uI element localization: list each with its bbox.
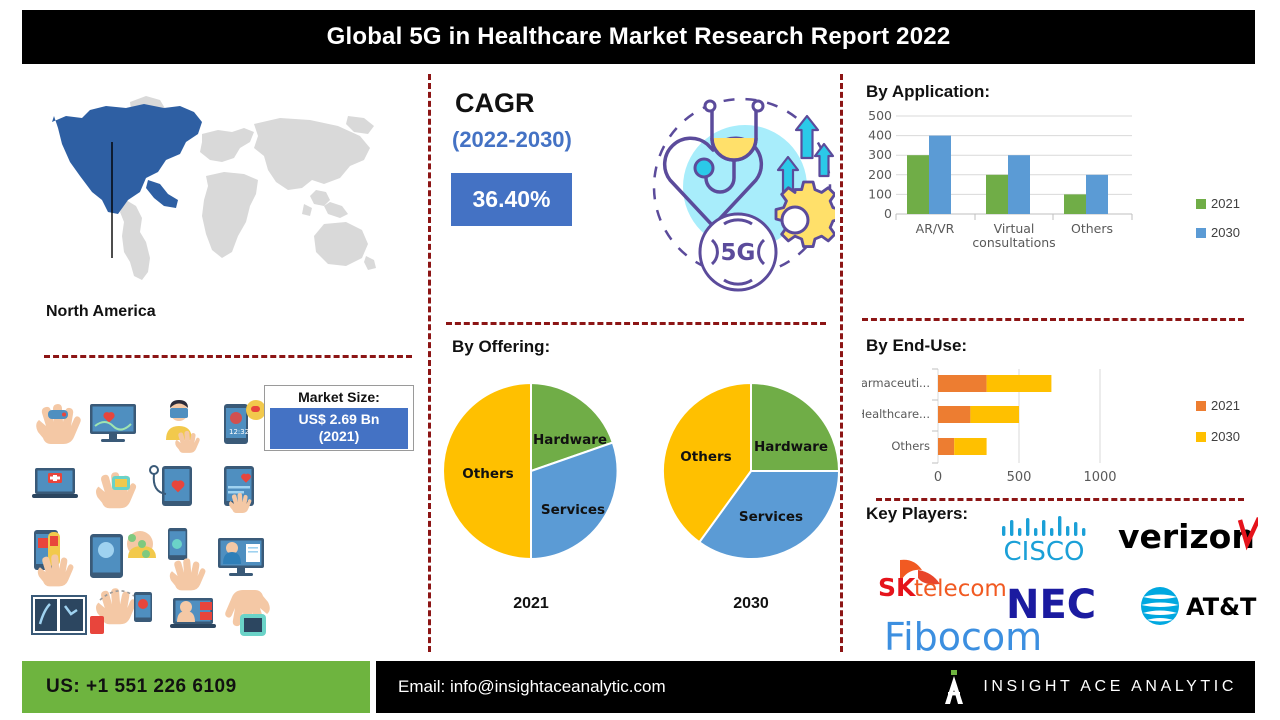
svg-text:100: 100 — [868, 186, 892, 201]
enduse-bar-chart: Pharmaceuti... Healthcare... Others 0 50… — [862, 365, 1172, 495]
svg-text:400: 400 — [868, 128, 892, 143]
svg-text:Hardware: Hardware — [754, 439, 828, 455]
page-title: Global 5G in Healthcare Market Research … — [327, 23, 951, 51]
section-title-enduse: By End-Use: — [866, 336, 967, 356]
svg-text:telecom: telecom — [914, 576, 1007, 602]
svg-text:CISCO: CISCO — [1004, 537, 1085, 567]
svg-text:500: 500 — [1007, 470, 1032, 485]
svg-text:Healthcare...: Healthcare... — [862, 407, 930, 421]
svg-text:Services: Services — [541, 502, 605, 518]
legend-swatch-enduse-2021 — [1196, 401, 1206, 411]
footer-brand: INSIGHT ACE ANALYTIC — [941, 670, 1237, 704]
legend-item-enduse-2030: 2030 — [1196, 429, 1240, 444]
footer-brand-name: INSIGHT ACE ANALYTIC — [983, 678, 1237, 696]
pie-year-2021: 2021 — [438, 595, 624, 613]
svg-text:consultations: consultations — [972, 235, 1055, 250]
cisco-logo: CISCO — [1002, 516, 1085, 567]
legend-swatch-2021 — [1196, 199, 1206, 209]
svg-text:5G: 5G — [721, 240, 756, 266]
svg-text:300: 300 — [868, 147, 892, 162]
fibocom-logo: Fibocom — [884, 615, 1042, 657]
region-label: North America — [46, 303, 156, 321]
svg-text:AT&T: AT&T — [1186, 593, 1257, 621]
sk-telecom-logo: SK telecom — [878, 560, 1007, 602]
divider-vertical-right — [840, 74, 843, 652]
legend-item-enduse-2021: 2021 — [1196, 398, 1240, 413]
svg-text:Fibocom: Fibocom — [884, 615, 1042, 657]
market-size-year: (2021) — [270, 428, 408, 445]
5g-healthcare-icon: 5G — [650, 82, 835, 297]
legend-item-2030: 2030 — [1196, 225, 1240, 240]
cagr-period: (2022-2030) — [452, 127, 572, 153]
svg-text:200: 200 — [868, 167, 892, 182]
section-title-application: By Application: — [866, 82, 990, 102]
svg-text:0: 0 — [884, 206, 892, 221]
header-bar: Global 5G in Healthcare Market Research … — [22, 10, 1255, 64]
verizon-logo: verizon — [1118, 517, 1258, 556]
legend-swatch-enduse-2030 — [1196, 432, 1206, 442]
insight-ace-logo-icon — [941, 670, 967, 704]
svg-text:Pharmaceuti...: Pharmaceuti... — [862, 376, 930, 390]
key-players-logos: CISCO verizon SK telecom NEC — [868, 512, 1258, 657]
enduse-legend: 2021 2030 — [1196, 398, 1240, 460]
svg-text:SK: SK — [878, 573, 917, 602]
att-logo: AT&T — [1141, 587, 1257, 625]
legend-swatch-2030 — [1196, 228, 1206, 238]
footer-contact-block: Email: info@insightaceanalytic.com INSIG… — [376, 661, 1255, 713]
footer-phone-block: US: +1 551 226 6109 — [22, 661, 370, 713]
cagr-title: CAGR — [455, 88, 535, 119]
svg-text:0: 0 — [934, 470, 942, 485]
application-bar-chart: 500 400 300 200 100 0 AR/VR Virtual cons… — [862, 110, 1192, 255]
divider-horizontal-left — [44, 355, 412, 358]
svg-text:12:32: 12:32 — [229, 428, 249, 436]
legend-label-enduse-2030: 2030 — [1211, 429, 1240, 444]
footer-email: Email: info@insightaceanalytic.com — [398, 677, 666, 697]
legend-label-enduse-2021: 2021 — [1211, 398, 1240, 413]
legend-label-2021: 2021 — [1211, 196, 1240, 211]
svg-text:Virtual: Virtual — [994, 221, 1035, 236]
svg-text:verizon: verizon — [1118, 517, 1255, 556]
svg-text:Others: Others — [680, 449, 731, 465]
healthcare-technology-icons: 12:32 — [28, 392, 276, 640]
divider-horizontal-right-top — [862, 318, 1244, 321]
pie-chart-2030: Hardware Services Others — [658, 378, 844, 564]
application-legend: 2021 2030 — [1196, 196, 1240, 254]
svg-text:AR/VR: AR/VR — [916, 221, 955, 236]
legend-label-2030: 2030 — [1211, 225, 1240, 240]
divider-vertical-left — [428, 74, 431, 652]
pie-chart-2021: Hardware Services Others — [438, 378, 624, 564]
svg-text:Others: Others — [1071, 221, 1113, 236]
footer-phone: US: +1 551 226 6109 — [46, 676, 237, 698]
svg-text:Others: Others — [462, 466, 513, 482]
market-size-amount: US$ 2.69 Bn — [270, 411, 408, 428]
pie-year-2030: 2030 — [658, 595, 844, 613]
section-title-offering: By Offering: — [452, 337, 550, 357]
market-size-title: Market Size: — [298, 389, 380, 405]
svg-text:500: 500 — [868, 110, 892, 123]
world-map — [30, 80, 425, 295]
svg-text:Hardware: Hardware — [533, 432, 607, 448]
svg-text:Others: Others — [891, 439, 930, 453]
cagr-value-badge: 36.40% — [451, 173, 572, 226]
svg-text:1000: 1000 — [1083, 470, 1116, 485]
infographic-page: Global 5G in Healthcare Market Research … — [0, 0, 1280, 720]
legend-item-2021: 2021 — [1196, 196, 1240, 211]
svg-text:Services: Services — [739, 509, 803, 525]
divider-horizontal-right-bottom — [876, 498, 1244, 501]
divider-horizontal-center — [446, 322, 826, 325]
market-size-box: Market Size: US$ 2.69 Bn (2021) — [264, 385, 414, 451]
market-size-value: US$ 2.69 Bn (2021) — [270, 408, 408, 449]
